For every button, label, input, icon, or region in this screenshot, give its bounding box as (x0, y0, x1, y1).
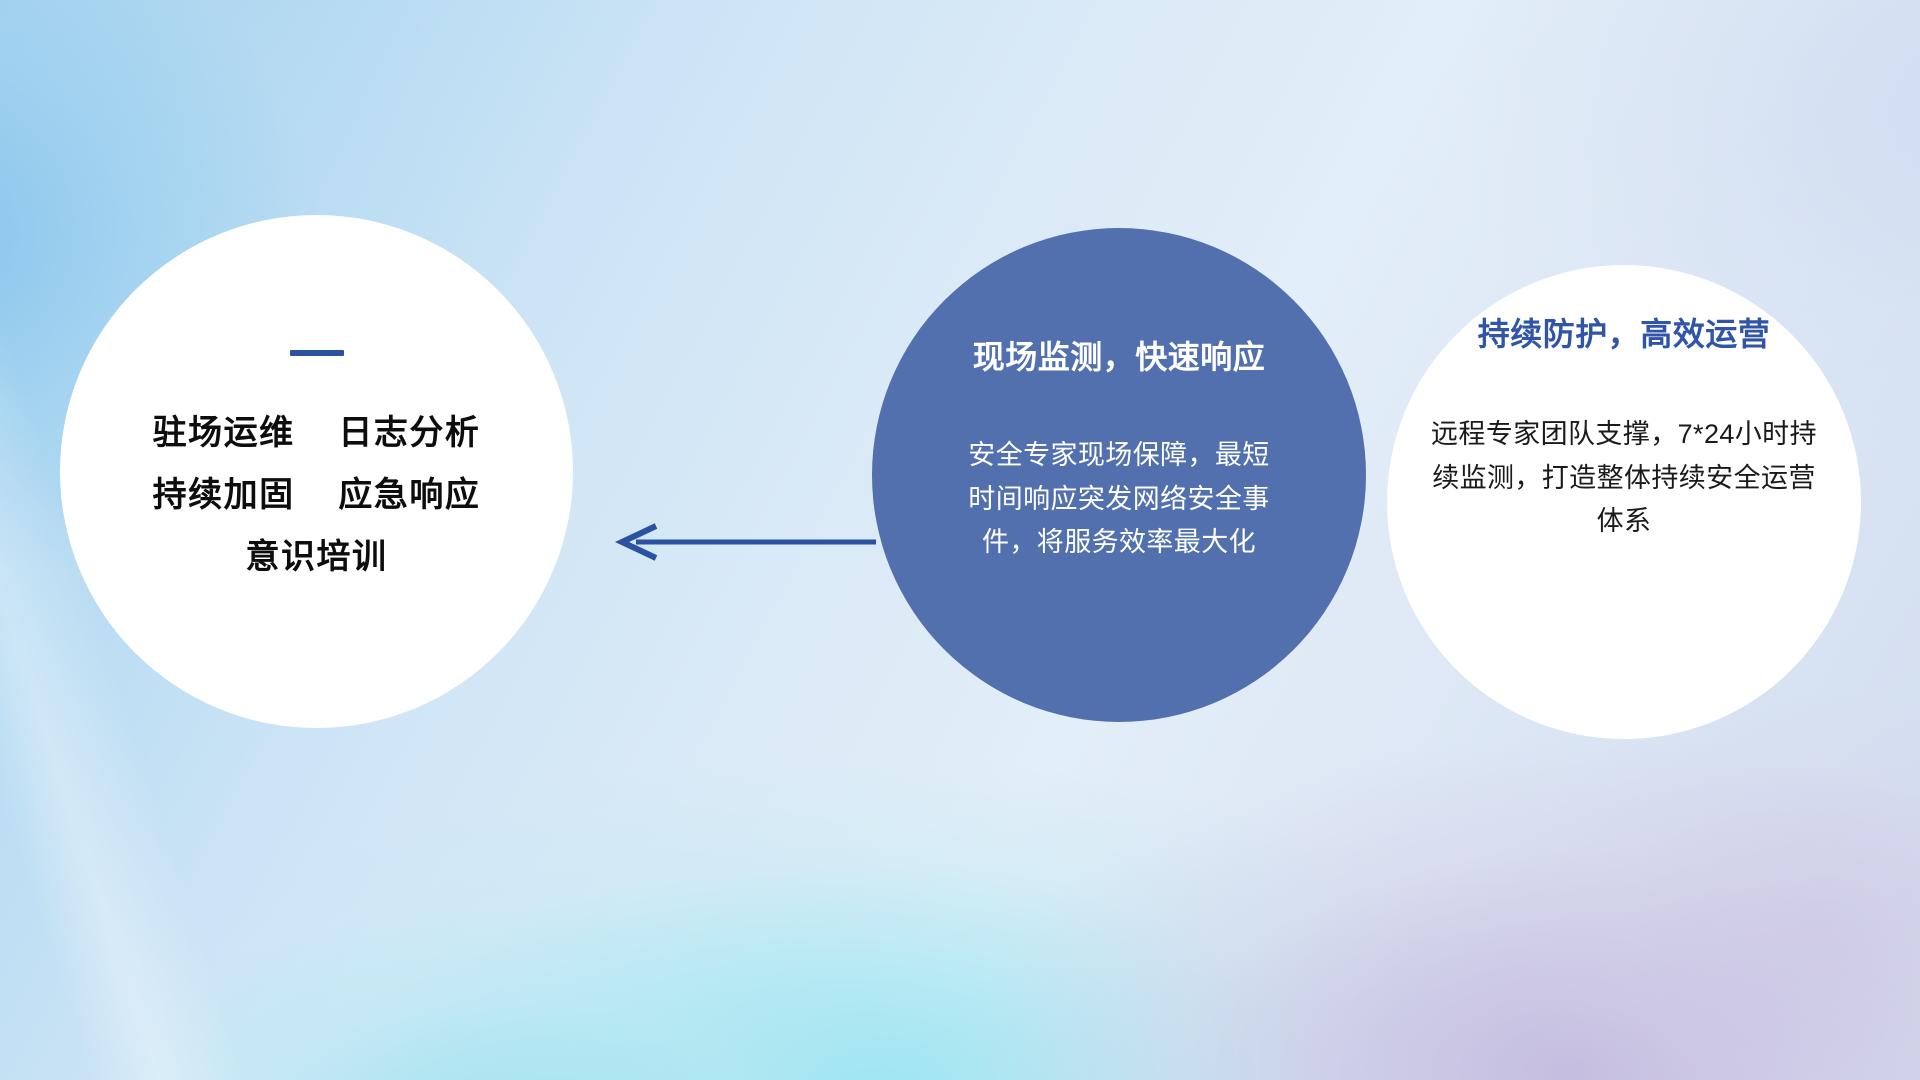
right-circle-body: 远程专家团队支撑，7*24小时持续监测，打造整体持续安全运营体系 (1424, 413, 1824, 544)
flow-arrow-left-icon (610, 520, 880, 564)
left-capability-circle[interactable]: 驻场运维 日志分析 持续加固 应急响应 意识培训 (60, 215, 573, 728)
right-circle-title: 持续防护，高效运营 (1478, 309, 1771, 355)
list-item: 意识培训 (246, 538, 388, 576)
right-continuous-protection-circle[interactable]: 持续防护，高效运营 远程专家团队支撑，7*24小时持续监测，打造整体持续安全运营… (1387, 265, 1861, 739)
left-circle-keyword-list: 驻场运维 日志分析 持续加固 应急响应 意识培训 (60, 414, 573, 576)
list-item: 持续加固 应急响应 (153, 476, 481, 514)
middle-onsite-monitoring-circle[interactable]: 现场监测，快速响应 安全专家现场保障，最短时间响应突发网络安全事件，将服务效率最… (872, 228, 1366, 722)
list-item: 驻场运维 日志分析 (153, 414, 481, 452)
middle-circle-body: 安全专家现场保障，最短时间响应突发网络安全事件，将服务效率最大化 (964, 434, 1274, 565)
dash-divider-icon (290, 350, 344, 356)
slide-canvas: 驻场运维 日志分析 持续加固 应急响应 意识培训 现场监测，快速响应 安全专家现… (0, 0, 1920, 1080)
middle-circle-title: 现场监测，快速响应 (973, 332, 1266, 378)
